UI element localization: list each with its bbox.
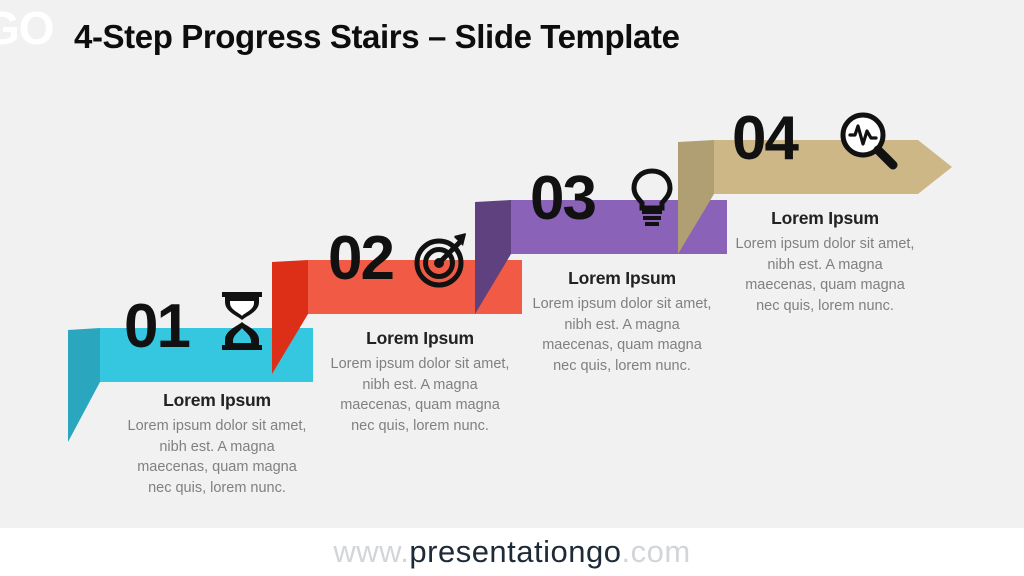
page-title: 4-Step Progress Stairs – Slide Template — [74, 18, 680, 56]
footer-url: www.presentationgo.com — [333, 534, 690, 570]
presentationgo-logo-watermark: GO — [0, 4, 48, 52]
step-03-heading: Lorem Ipsum — [530, 268, 714, 289]
hourglass-icon — [218, 292, 266, 355]
step-04-heading: Lorem Ipsum — [733, 208, 917, 229]
step-03-body: Lorem ipsum dolor sit amet, nibh est. A … — [530, 294, 714, 376]
footer-url-brand: presentationgo — [409, 534, 621, 569]
lightbulb-icon — [630, 168, 674, 233]
step-02-number: 02 — [328, 228, 393, 290]
target-arrow-icon — [414, 232, 470, 293]
magnifier-pulse-icon — [838, 110, 900, 177]
step-01-body: Lorem ipsum dolor sit amet, nibh est. A … — [125, 416, 309, 498]
step-01-heading: Lorem Ipsum — [125, 390, 309, 411]
step-01-text: Lorem Ipsum Lorem ipsum dolor sit amet, … — [125, 390, 309, 498]
step-04-number: 04 — [732, 108, 797, 170]
step-04-body: Lorem ipsum dolor sit amet, nibh est. A … — [733, 234, 917, 316]
step-02-heading: Lorem Ipsum — [328, 328, 512, 349]
footer-url-suffix: .com — [622, 534, 691, 569]
slide-canvas: GO 4-Step Progress Stairs – Slide Templa… — [0, 0, 1024, 576]
step-03-text: Lorem Ipsum Lorem ipsum dolor sit amet, … — [530, 268, 714, 376]
step-04-text: Lorem Ipsum Lorem ipsum dolor sit amet, … — [733, 208, 917, 316]
step-02-text: Lorem Ipsum Lorem ipsum dolor sit amet, … — [328, 328, 512, 436]
footer-watermark: www.presentationgo.com — [0, 528, 1024, 576]
step-03-number: 03 — [530, 168, 595, 230]
step-01-number: 01 — [124, 296, 189, 358]
footer-url-prefix: www. — [333, 534, 409, 569]
step-02-body: Lorem ipsum dolor sit amet, nibh est. A … — [328, 354, 512, 436]
